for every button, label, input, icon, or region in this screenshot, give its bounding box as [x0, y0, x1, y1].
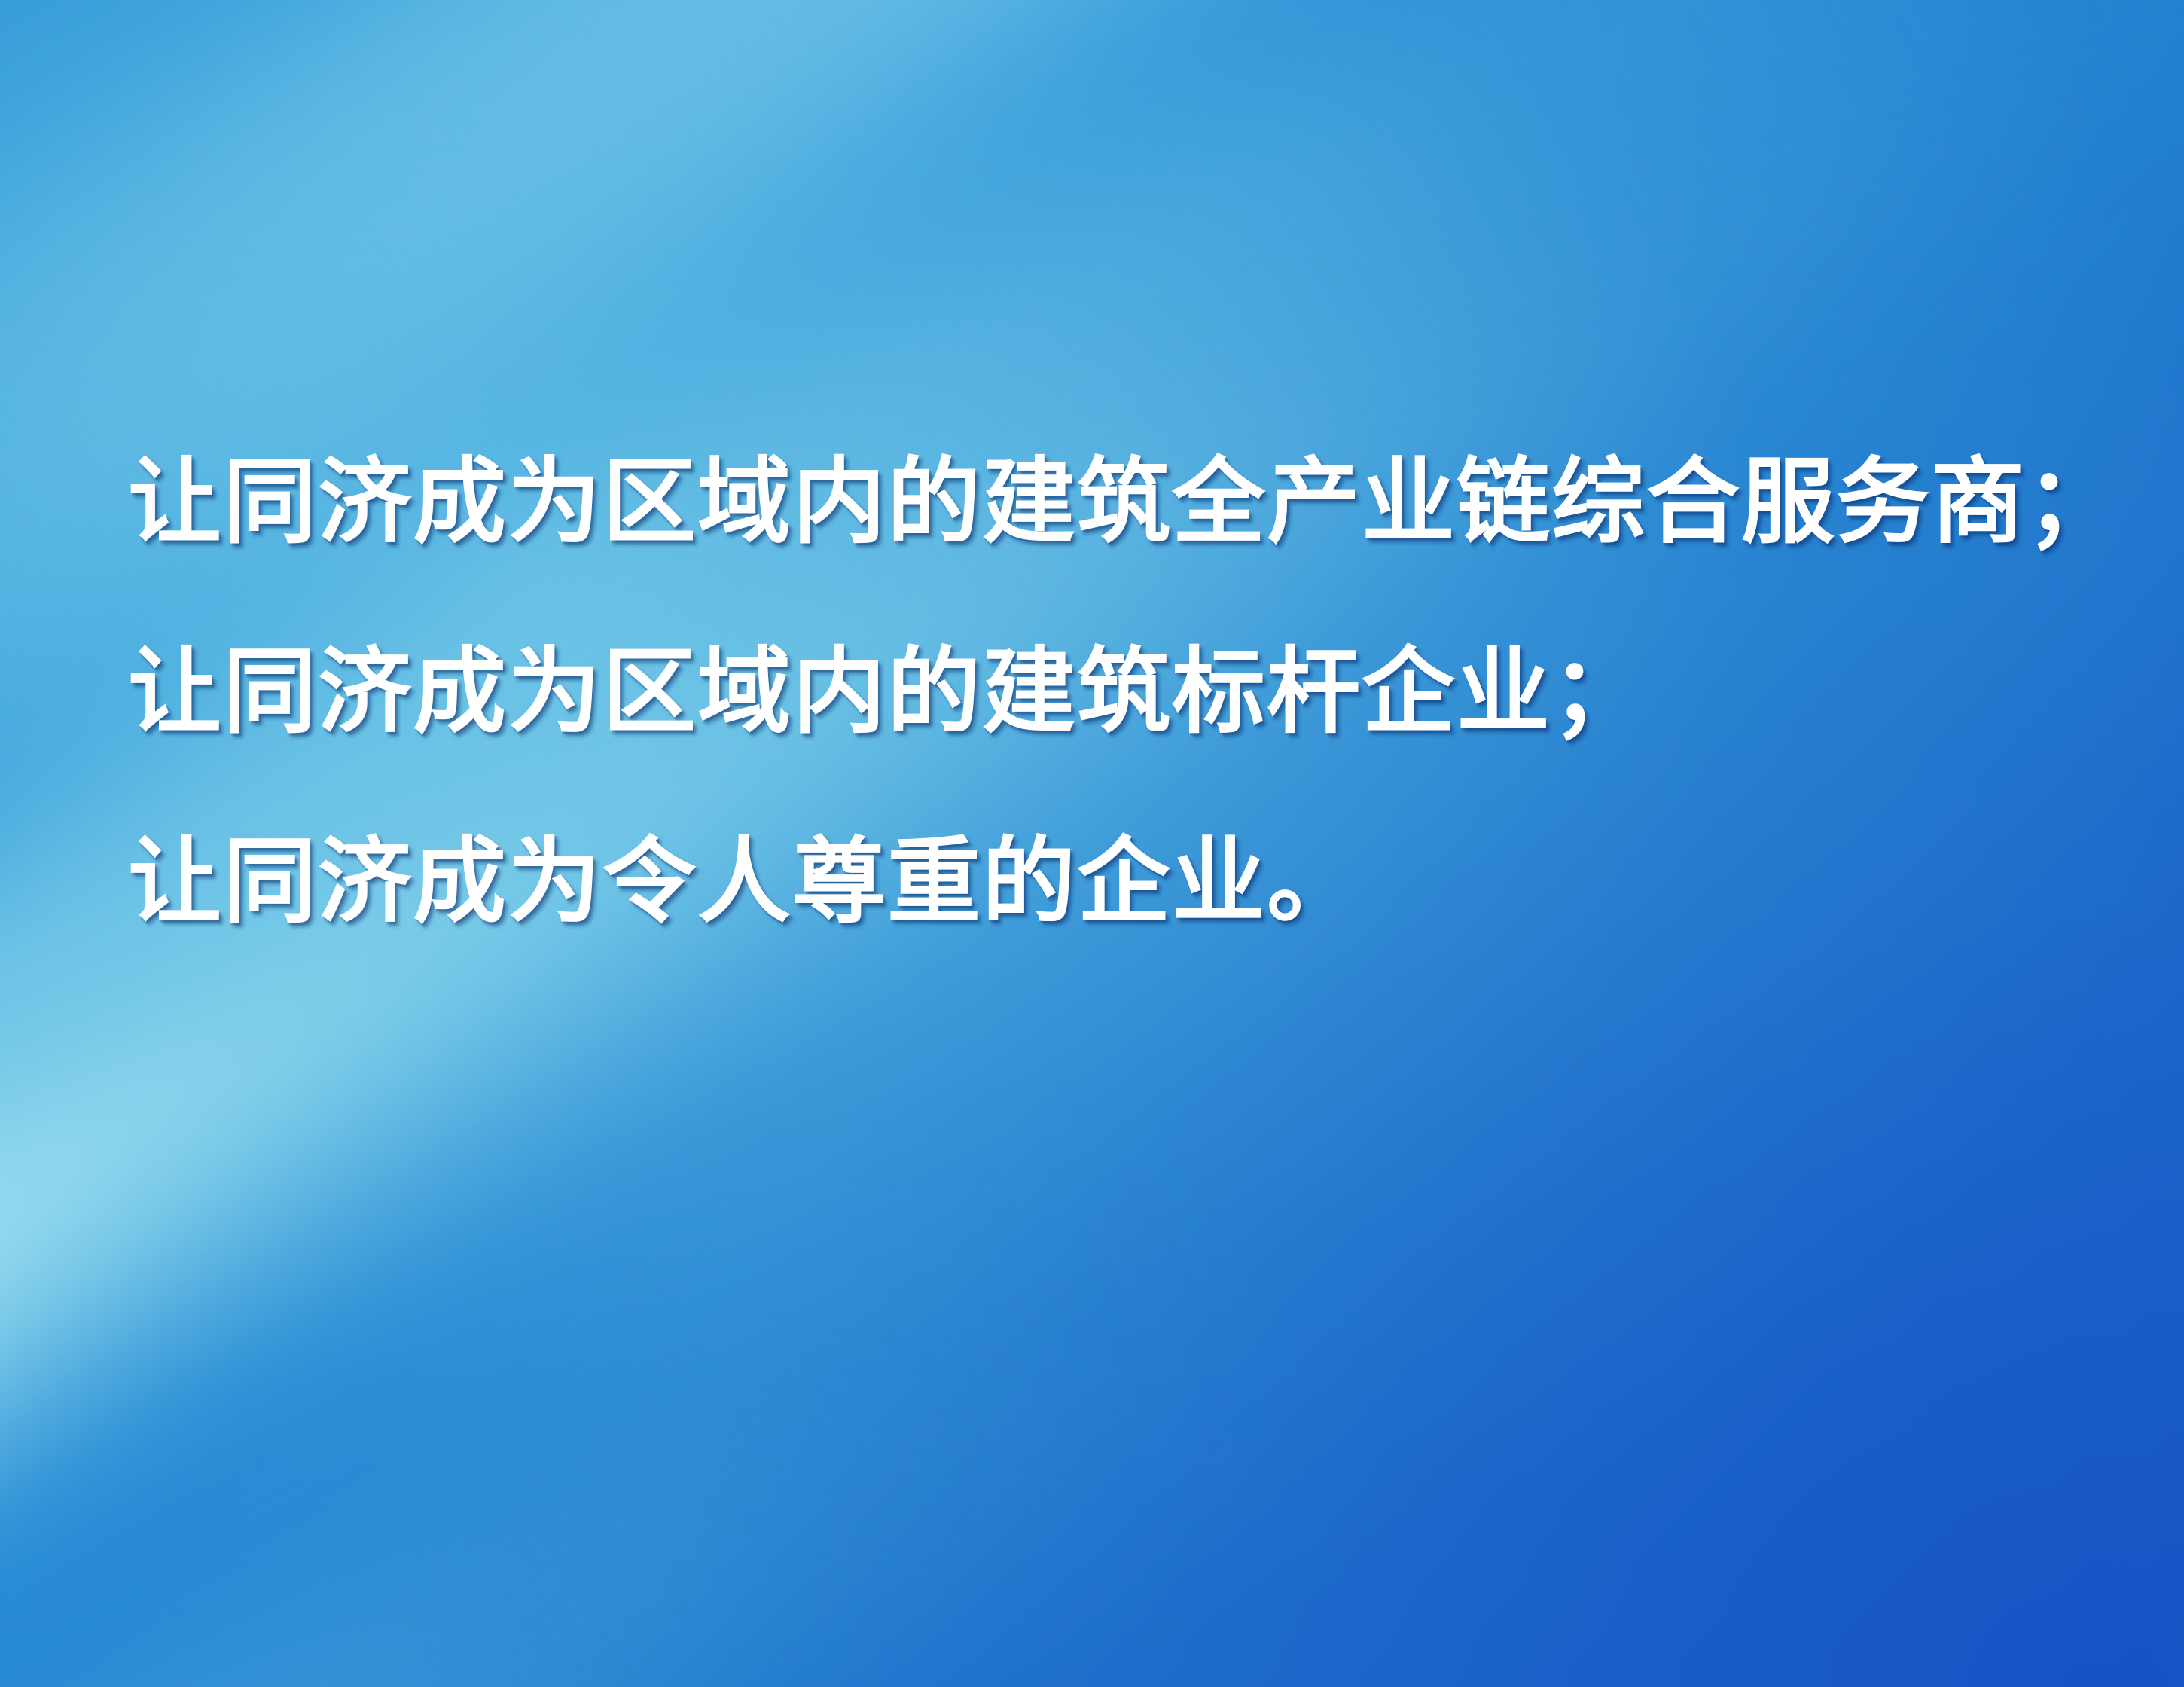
slide-text-line-3: 让同济成为令人尊重的企业。 [128, 831, 2101, 932]
presentation-slide: 让同济成为区域内的建筑全产业链综合服务商； 让同济成为区域内的建筑标杆企业； 让… [0, 0, 2184, 1687]
slide-text-line-2: 让同济成为区域内的建筑标杆企业； [128, 642, 2101, 743]
slide-text-line-1: 让同济成为区域内的建筑全产业链综合服务商； [128, 452, 2101, 553]
slide-text-block: 让同济成为区域内的建筑全产业链综合服务商； 让同济成为区域内的建筑标杆企业； 让… [128, 452, 2101, 932]
